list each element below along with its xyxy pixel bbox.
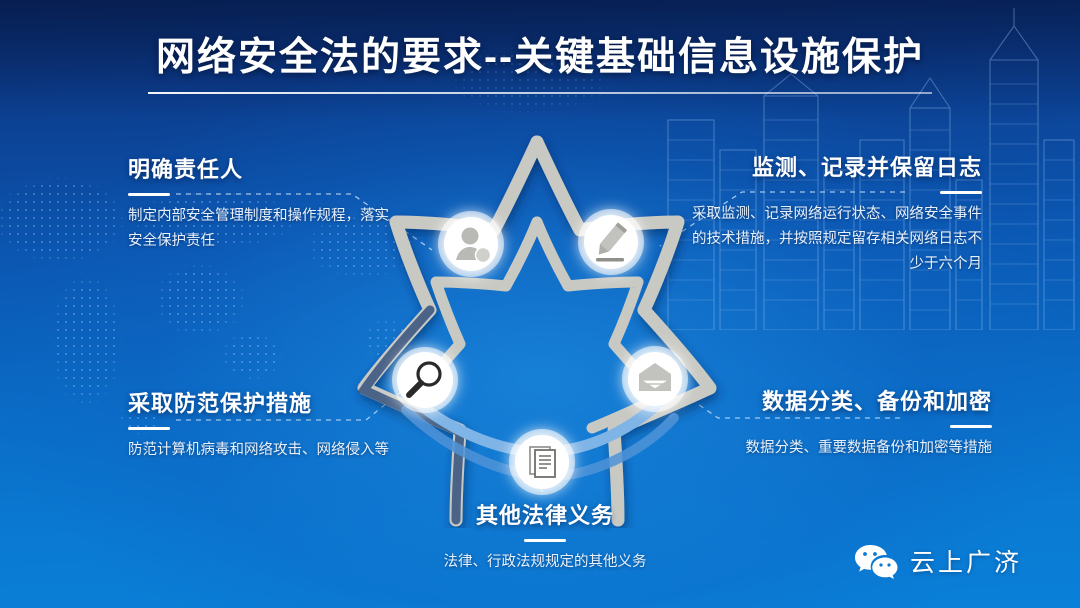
block-divider	[940, 191, 982, 194]
block-title: 明确责任人	[128, 152, 396, 184]
block-title: 其他法律义务	[400, 498, 690, 530]
block-monitor-log: 监测、记录并保留日志 采取监测、记录网络运行状态、网络安全事件的技术措施，并按照…	[682, 150, 982, 277]
block-title: 采取防范保护措施	[128, 386, 396, 418]
wechat-icon	[854, 542, 898, 580]
block-body: 防范计算机病毒和网络攻击、网络侵入等	[128, 438, 396, 463]
title-divider	[148, 92, 932, 94]
block-data-classification: 数据分类、备份和加密 数据分类、重要数据备份和加密等措施	[706, 384, 992, 461]
block-body: 制定内部安全管理制度和操作规程，落实安全保护责任	[128, 204, 396, 254]
page-title: 网络安全法的要求--关键基础信息设施保护	[0, 26, 1080, 82]
watermark: 云上广济	[854, 542, 1022, 580]
block-body: 采取监测、记录网络运行状态、网络安全事件的技术措施，并按照规定留存相关网络日志不…	[682, 202, 982, 277]
block-divider	[128, 193, 170, 196]
block-divider	[524, 539, 566, 542]
block-divider	[950, 425, 992, 428]
slide-canvas: 网络安全法的要求--关键基础信息设施保护	[0, 0, 1080, 608]
block-other-obligations: 其他法律义务 法律、行政法规规定的其他义务	[400, 498, 690, 575]
block-divider	[128, 427, 170, 430]
block-body: 数据分类、重要数据备份和加密等措施	[706, 436, 992, 461]
block-protective-measures: 采取防范保护措施 防范计算机病毒和网络攻击、网络侵入等	[128, 386, 396, 463]
block-responsible-person: 明确责任人 制定内部安全管理制度和操作规程，落实安全保护责任	[128, 152, 396, 254]
watermark-text: 云上广济	[910, 543, 1022, 579]
block-body: 法律、行政法规规定的其他义务	[400, 550, 690, 575]
block-title: 监测、记录并保留日志	[682, 150, 982, 182]
block-title: 数据分类、备份和加密	[706, 384, 992, 416]
